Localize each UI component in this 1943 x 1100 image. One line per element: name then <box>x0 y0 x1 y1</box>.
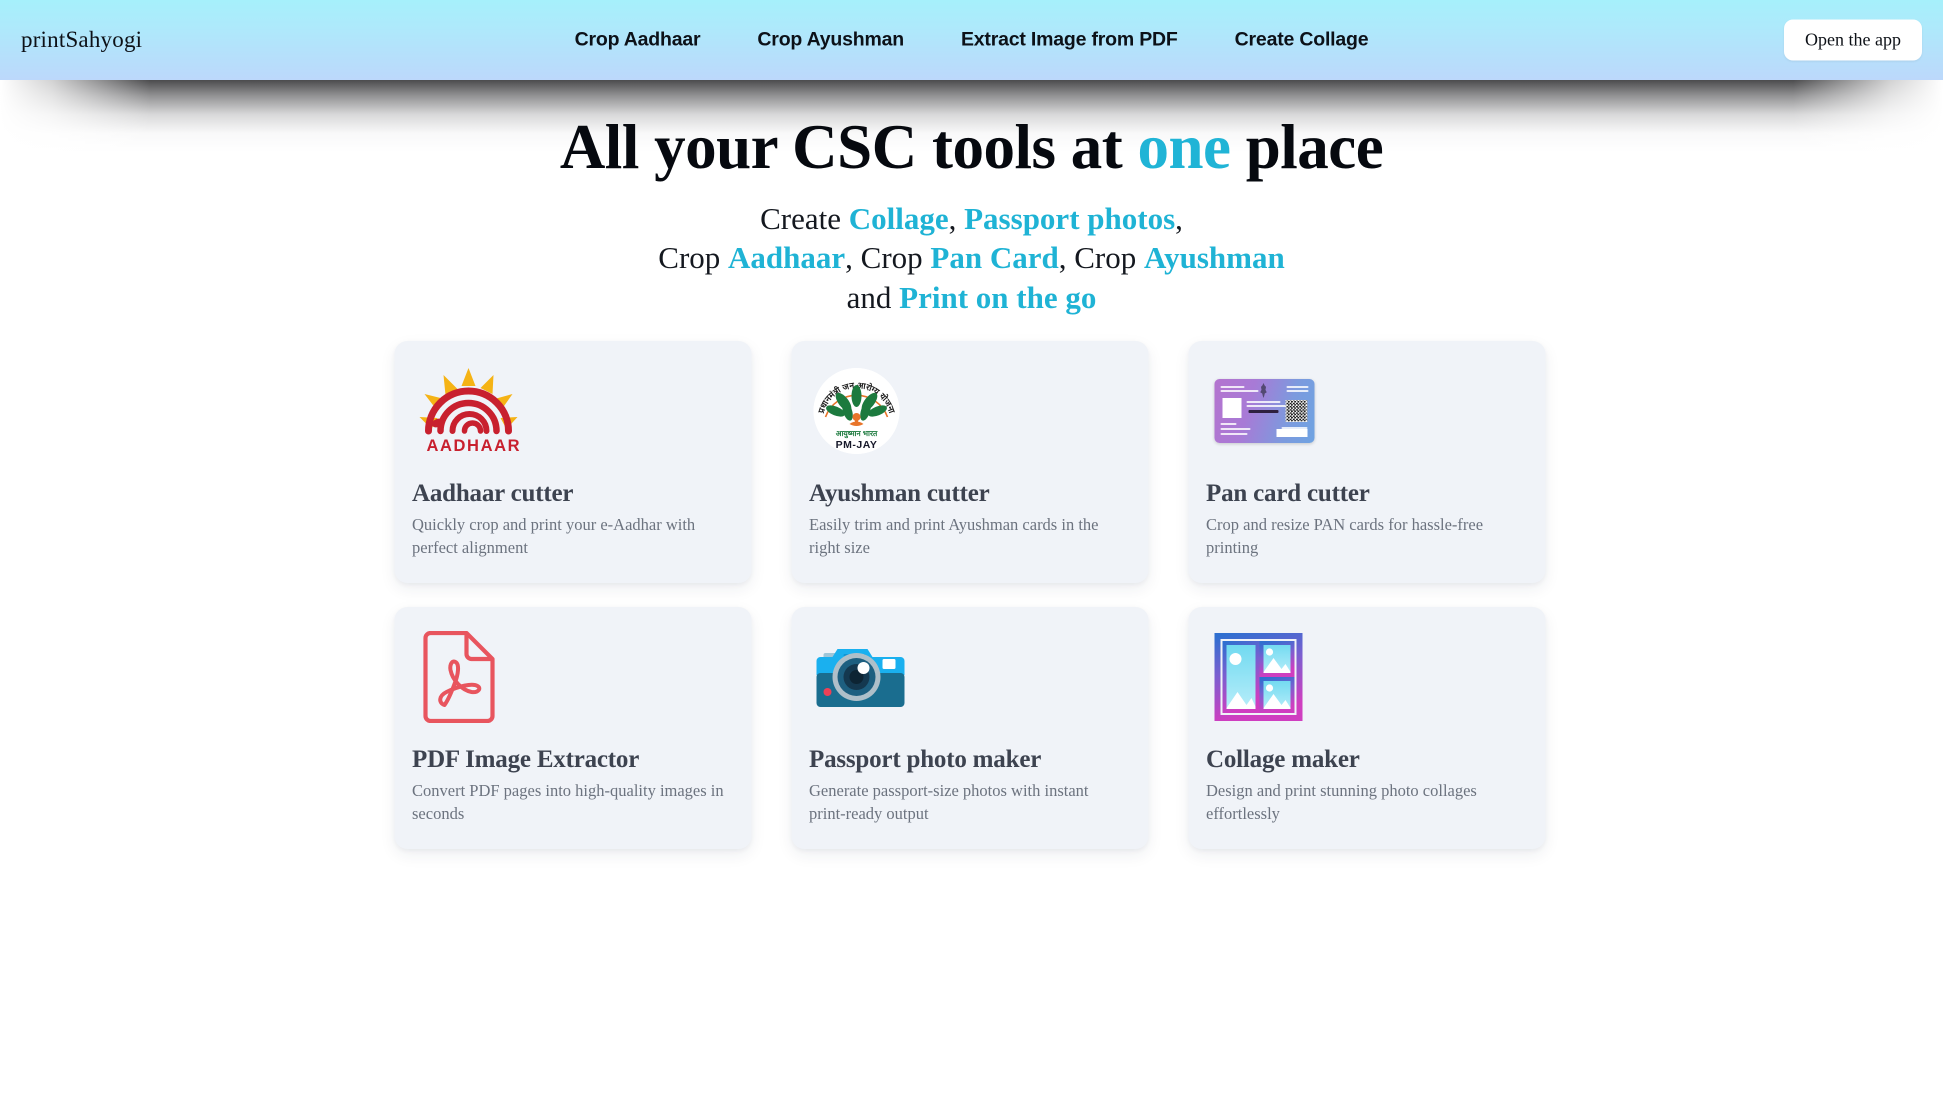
hero-title-part1: All your CSC tools at <box>560 112 1138 182</box>
hero-sub-sep-2: , <box>1175 201 1183 236</box>
open-the-app-button[interactable]: Open the app <box>1784 20 1922 61</box>
ayushman-card-icon-wrap: प्रधानमंत्री जन आरोग्य योजना <box>809 365 1130 457</box>
hero-sub-collage: Collage <box>849 201 949 236</box>
pan-card-icon <box>1214 379 1314 443</box>
hero-sub-create-label: Create <box>760 201 849 236</box>
brand-logo[interactable]: printSahyogi <box>21 27 142 53</box>
collage-card-icon-wrap <box>1206 631 1527 723</box>
hero-sub-passport-photos: Passport photos <box>964 201 1175 236</box>
card-title: Collage maker <box>1206 745 1527 775</box>
card-pdf-image-extractor[interactable]: PDF Image Extractor Convert PDF pages in… <box>394 607 751 849</box>
hero-subtitle-line-3: and Print on the go <box>0 278 1943 318</box>
nav-create-collage[interactable]: Create Collage <box>1235 29 1369 52</box>
card-passport-photo-maker[interactable]: Passport photo maker Generate passport-s… <box>791 607 1148 849</box>
svg-text:PM-JAY: PM-JAY <box>835 439 877 451</box>
landing-page: printSahyogi Crop Aadhaar Crop Ayushman … <box>0 0 1943 1100</box>
camera-card-icon-wrap <box>809 631 1130 723</box>
card-description: Design and print stunning photo collages… <box>1206 779 1518 826</box>
svg-text:AADHAAR: AADHAAR <box>426 437 521 454</box>
hero-sub-ayushman: Ayushman <box>1144 240 1285 275</box>
card-aadhaar-cutter[interactable]: AADHAAR Aadhaar cutter Quickly crop and … <box>394 341 751 583</box>
hero-subtitle-line-2: Crop Aadhaar, Crop Pan Card, Crop Ayushm… <box>0 238 1943 278</box>
collage-frames-icon <box>1214 633 1302 721</box>
hero-sub-sep-1: , <box>949 201 965 236</box>
main-navigation: Crop Aadhaar Crop Ayushman Extract Image… <box>575 29 1369 52</box>
pan-card-icon-wrap <box>1206 365 1527 457</box>
hero-title-part2: place <box>1230 112 1383 182</box>
card-description: Convert PDF pages into high-quality imag… <box>412 779 724 826</box>
card-description: Crop and resize PAN cards for hassle-fre… <box>1206 513 1518 560</box>
pdf-card-icon-wrap <box>412 631 733 723</box>
card-title: PDF Image Extractor <box>412 745 733 775</box>
tools-grid: AADHAAR Aadhaar cutter Quickly crop and … <box>394 341 1549 849</box>
camera-icon <box>815 639 907 715</box>
nav-crop-ayushman[interactable]: Crop Ayushman <box>757 29 904 52</box>
aadhaar-card-icon-wrap: AADHAAR <box>412 365 733 457</box>
site-header: printSahyogi Crop Aadhaar Crop Ayushman … <box>0 0 1943 80</box>
pdf-document-icon <box>420 631 498 723</box>
svg-text:आयुष्मान भारत: आयुष्मान भारत <box>835 429 877 439</box>
pan-signature-box <box>1276 429 1307 437</box>
hero-sub-sep-3: , Crop <box>845 240 930 275</box>
card-description: Easily trim and print Ayushman cards in … <box>809 513 1121 560</box>
hero-sub-pan-card: Pan Card <box>930 240 1058 275</box>
hero-subtitle-line-1: Create Collage, Passport photos, <box>0 199 1943 239</box>
hero-sub-crop-label-1: Crop <box>658 240 728 275</box>
hero-section: All your CSC tools at one place Create C… <box>0 112 1943 318</box>
card-title: Aadhaar cutter <box>412 479 733 509</box>
qr-code-icon <box>1285 400 1307 422</box>
hero-sub-print-on-the-go: Print on the go <box>899 280 1096 315</box>
pan-photo-box <box>1222 398 1241 418</box>
card-ayushman-cutter[interactable]: प्रधानमंत्री जन आरोग्य योजना <box>791 341 1148 583</box>
card-description: Generate passport-size photos with insta… <box>809 779 1121 826</box>
hero-sub-sep-4: , Crop <box>1059 240 1144 275</box>
card-pan-card-cutter[interactable]: Pan card cutter Crop and resize PAN card… <box>1188 341 1545 583</box>
hero-title-accent: one <box>1137 112 1230 182</box>
card-collage-maker[interactable]: Collage maker Design and print stunning … <box>1188 607 1545 849</box>
card-title: Passport photo maker <box>809 745 1130 775</box>
card-description: Quickly crop and print your e-Aadhar wit… <box>412 513 724 560</box>
nav-extract-image-from-pdf[interactable]: Extract Image from PDF <box>961 29 1178 52</box>
page-title: All your CSC tools at one place <box>0 112 1943 183</box>
hero-sub-and-label: and <box>847 280 900 315</box>
aadhaar-logo-icon: AADHAAR <box>416 368 528 454</box>
emblem-icon <box>1259 383 1268 398</box>
card-title: Ayushman cutter <box>809 479 1130 509</box>
pmjay-logo-icon: प्रधानमंत्री जन आरोग्य योजना <box>813 368 899 454</box>
hero-sub-aadhaar: Aadhaar <box>728 240 845 275</box>
card-title: Pan card cutter <box>1206 479 1527 509</box>
hero-subtitle: Create Collage, Passport photos, Crop Aa… <box>0 199 1943 318</box>
nav-crop-aadhaar[interactable]: Crop Aadhaar <box>575 29 701 52</box>
